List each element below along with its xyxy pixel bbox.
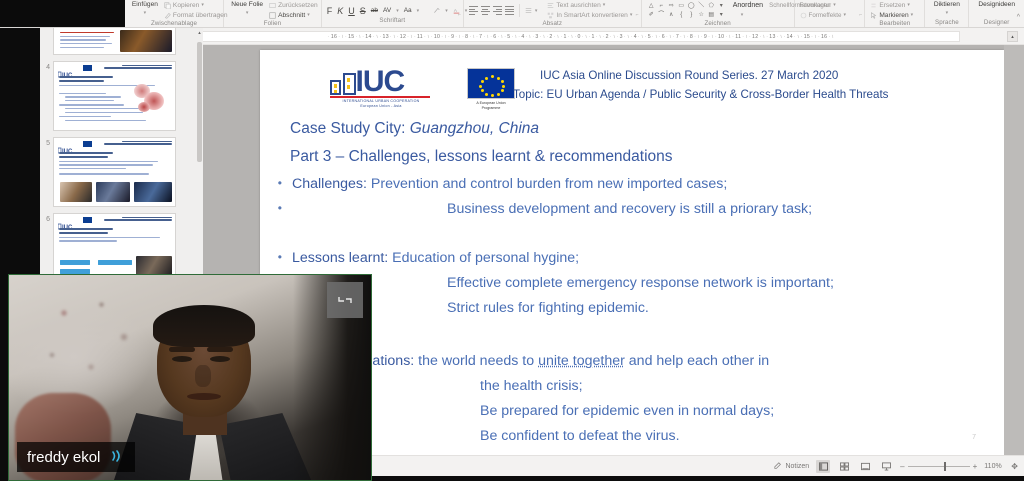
shape-angle-icon[interactable]: ∧: [667, 11, 676, 19]
participant-name-bar: freddy ekol: [17, 442, 135, 472]
shape-rect-icon[interactable]: ▭: [677, 2, 686, 10]
slide-sorter-icon: [840, 462, 849, 471]
chevron-down-icon: ▾: [907, 1, 910, 10]
zoom-knob[interactable]: [944, 462, 946, 471]
replace-label: Ersetzen: [879, 1, 905, 10]
chevron-down-icon: ▾: [603, 1, 606, 10]
group-label-editing: Bearbeiten: [870, 20, 919, 28]
view-slide-sorter-button[interactable]: [837, 460, 851, 473]
collapse-video-button[interactable]: [327, 282, 363, 318]
align-left-icon[interactable]: [469, 6, 478, 15]
notes-icon: [774, 462, 782, 470]
font-dialog-launcher[interactable]: ⌐: [458, 12, 461, 18]
zoom-slider[interactable]: – +: [900, 462, 977, 471]
underline-button[interactable]: U: [348, 6, 355, 16]
convert-smartart-label: In SmartArt konvertieren: [556, 11, 627, 20]
select-button[interactable]: Markieren ▾: [870, 11, 913, 20]
horizontal-ruler[interactable]: ·16·۱·15·۱·14·۱·13·۱·12·۱·11·۱·10·۱·9·۱·…: [202, 31, 960, 42]
bullet-marker: •: [260, 246, 292, 264]
arrange-button[interactable]: Anordnen: [733, 1, 763, 10]
replace-icon: [870, 2, 877, 9]
group-label-paragraph: Absatz: [469, 20, 636, 28]
case-study-label: Case Study City:: [290, 120, 410, 137]
notes-label: Notizen: [785, 463, 809, 470]
ribbon-group-editing: Ersetzen ▾ Markieren ▾ Bearbeiten: [865, 0, 925, 27]
select-icon: [870, 12, 877, 19]
shape-dialog-launcher[interactable]: ⌐: [859, 12, 862, 18]
group-label-font: Schriftart: [327, 17, 458, 25]
shape-more-icon[interactable]: ▾: [717, 2, 726, 10]
scroll-up-arrow-icon[interactable]: ▴: [196, 28, 203, 38]
group-label-designer: Designer: [974, 19, 1019, 27]
quick-styles-button[interactable]: ▾: [741, 11, 763, 20]
dictate-label: Diktieren: [934, 1, 960, 9]
ribbon-group-drawing: △ ⌐ ⇨ ▭ ◯ ＼ ⬠ ▾ ✐ ⌒ ∧ { } ☆ ▤ ▾: [642, 0, 795, 27]
bullet-marker: •: [260, 172, 292, 190]
zoom-in-button[interactable]: +: [973, 462, 978, 471]
fit-to-window-button[interactable]: ✥: [1011, 462, 1018, 471]
thumbnail-header: [96, 217, 172, 224]
text-direction-button[interactable]: Text ausrichten ▾: [547, 1, 632, 10]
line-spacing-icon[interactable]: [525, 7, 532, 14]
participant-name: freddy ekol: [27, 449, 100, 466]
iuc-subtitle-1: INTERNATIONAL URBAN COOPERATION: [330, 99, 432, 104]
eyebrow-right: [207, 347, 233, 352]
iuc-wordmark: IUC: [356, 69, 405, 95]
slideshow-icon: [882, 462, 891, 471]
notes-button[interactable]: Notizen: [774, 462, 809, 470]
eu-flag-icon: [467, 68, 515, 99]
bullet-row: • Lessons learnt: Education of personal …: [260, 246, 984, 271]
thumbnail-iuc-logo: IUC: [58, 141, 80, 148]
bullet-row: • Challenges: Prevention and control bur…: [260, 172, 984, 197]
brush-icon: [164, 12, 171, 19]
thumbnail-slide[interactable]: IUC: [53, 213, 176, 283]
thumbnail-slide[interactable]: [53, 28, 176, 55]
view-slideshow-button[interactable]: [879, 460, 893, 473]
thumbnail-eu-logo: [83, 65, 92, 71]
bullet-body-pre: the world needs to: [418, 353, 538, 369]
section-button[interactable]: Abschnitt ▾: [269, 11, 318, 20]
align-center-icon[interactable]: [481, 6, 490, 15]
reset-button[interactable]: Zurücksetzen: [269, 1, 318, 10]
audio-active-icon: [109, 449, 123, 465]
dictate-button[interactable]: Diktieren ▾: [932, 1, 962, 17]
italic-button[interactable]: K: [337, 6, 343, 16]
divider: [519, 4, 520, 17]
nose: [195, 365, 211, 387]
eu-logo: A European Union Programme: [465, 68, 517, 111]
eu-caption-2: Programme: [465, 106, 517, 110]
shape-brace-right-icon[interactable]: }: [687, 11, 696, 19]
copy-button[interactable]: Kopieren ▾: [164, 1, 228, 10]
thumbnail-item[interactable]: 5 IUC: [40, 134, 203, 210]
scroll-up-button[interactable]: ▴: [1007, 31, 1018, 42]
shape-effects-button[interactable]: Formeffekte▾: [800, 11, 846, 20]
chevron-down-icon: ▾: [307, 11, 310, 20]
thumbnail-item[interactable]: 3: [40, 28, 203, 58]
thumbnail-item[interactable]: 4 IUC: [40, 58, 203, 134]
thumbnail-eu-logo: [83, 141, 92, 147]
group-label-voice: Sprache: [930, 19, 963, 27]
shape-triangle-icon[interactable]: △: [647, 2, 656, 10]
paragraph-dialog-launcher[interactable]: ⌐: [636, 12, 639, 18]
iuc-logo: IUC INTERNATIONAL URBAN COOPERATION Euro…: [330, 67, 432, 107]
thumbnail-number: 4: [42, 61, 53, 71]
normal-view-icon: [819, 462, 828, 471]
bullet-row: • Business development and recovery is s…: [260, 197, 984, 222]
shape-gallery[interactable]: △ ⌐ ⇨ ▭ ◯ ＼ ⬠ ▾ ✐ ⌒ ∧ { } ☆ ▤ ▾: [647, 1, 726, 19]
chevron-down-icon: ▾: [144, 9, 147, 17]
replace-button[interactable]: Ersetzen ▾: [870, 1, 913, 10]
thumbnail-eu-logo: [83, 217, 92, 223]
shape-pentagon-icon[interactable]: ⬠: [707, 2, 716, 10]
section-label: Abschnitt: [278, 11, 305, 20]
change-case-button[interactable]: Aa: [404, 6, 412, 16]
new-slide-button[interactable]: Neue Folie ▾: [229, 1, 265, 17]
ribbon-toolbar: Einfügen ▾ Kopieren ▾ Format übertragen …: [0, 0, 1024, 28]
case-study-line: Case Study City: Guangzhou, China: [290, 120, 539, 138]
select-label: Markieren: [879, 11, 908, 20]
design-ideas-label: Designideen: [978, 1, 1015, 9]
clear-formatting-icon[interactable]: [433, 7, 440, 14]
shape-expand-icon[interactable]: ▾: [717, 11, 726, 19]
eyebrow-left: [169, 347, 195, 352]
speaker-waves-icon: [109, 449, 123, 463]
bullet-text: Challenges: Prevention and control burde…: [292, 172, 727, 197]
new-slide-label: Neue Folie: [231, 1, 263, 9]
shape-bracket-icon[interactable]: ⌐: [657, 2, 666, 10]
justify-icon[interactable]: [505, 6, 514, 15]
thumbnail-number: 6: [42, 213, 53, 223]
shape-oval-icon[interactable]: ◯: [687, 2, 696, 10]
copy-icon: [164, 2, 171, 9]
case-study-city: Guangzhou, China: [410, 120, 539, 137]
ribbon-group-font: F K U S ab AV ▾ Aa ▾ ▾ A ▾ Schriftart ⌐: [322, 0, 464, 27]
group-label-drawing: Zeichnen: [647, 20, 789, 28]
thumbnail-header: [96, 141, 172, 148]
bullet-text: Effective complete emergency response ne…: [292, 271, 834, 296]
ribbon-left-dark-pad: [0, 0, 125, 27]
chevron-down-icon: ▾: [201, 1, 204, 10]
bold-button[interactable]: F: [327, 6, 333, 16]
group-label-slides: Folien: [229, 20, 316, 28]
shape-scribble-icon[interactable]: ✐: [647, 11, 656, 19]
zoom-level-label[interactable]: 110%: [984, 463, 1004, 470]
arrange-label: Anordnen: [733, 1, 763, 10]
text-align-label: Text ausrichten: [556, 1, 600, 10]
eye-left: [172, 356, 192, 362]
thumbnail-header: [96, 65, 172, 72]
collapse-ribbon-button[interactable]: ^: [1017, 14, 1020, 21]
reset-label: Zurücksetzen: [278, 1, 318, 10]
paste-button[interactable]: Einfügen ▾: [130, 1, 160, 17]
hair: [153, 305, 255, 347]
design-ideas-button[interactable]: Designideen: [976, 1, 1017, 9]
ribbon-group-clipboard: Einfügen ▾ Kopieren ▾ Format übertragen …: [125, 0, 224, 27]
video-participant-tile[interactable]: freddy ekol: [8, 274, 372, 481]
shape-brace-left-icon[interactable]: {: [677, 11, 686, 19]
eye-right: [210, 356, 230, 362]
bullet-marker: •: [260, 197, 292, 215]
screen: Einfügen ▾ Kopieren ▾ Format übertragen …: [0, 0, 1024, 481]
chevron-down-icon: ▾: [843, 11, 846, 20]
align-right-icon[interactable]: [493, 6, 502, 15]
zoom-out-button[interactable]: –: [900, 462, 904, 471]
clipboard-dialog-launcher[interactable]: ⌐: [218, 12, 221, 18]
thumbnail-iuc-logo: IUC: [58, 65, 80, 72]
chevron-down-icon: ▾: [630, 11, 633, 20]
zoom-track[interactable]: [908, 466, 970, 467]
part-title: Part 3 – Challenges, lessons learnt & re…: [290, 148, 673, 166]
reset-icon: [269, 2, 276, 9]
smartart-icon: [547, 12, 554, 19]
shape-arrow-icon[interactable]: ⇨: [667, 2, 676, 10]
bullet-label: Challenges:: [292, 176, 371, 192]
ribbon-group-shape-format: Formkontur▾ Formeffekte▾ ⌐: [795, 0, 866, 27]
slide-header-line-1: IUC Asia Online Discussion Round Series.…: [540, 69, 838, 82]
shadow-button[interactable]: S: [360, 6, 366, 16]
shape-line-icon[interactable]: ＼: [697, 2, 706, 10]
mouth: [187, 393, 221, 400]
copy-label: Kopieren: [173, 1, 199, 10]
bullet-body: Education of personal hygine;: [392, 250, 579, 266]
view-normal-button[interactable]: [816, 460, 830, 473]
chevron-down-icon: ▾: [445, 8, 448, 14]
chevron-down-icon: ▾: [833, 1, 836, 10]
reading-view-icon: [861, 462, 870, 471]
thumbnail-slide[interactable]: IUC: [53, 61, 176, 131]
strikethrough-button[interactable]: ab: [371, 6, 378, 16]
chevron-down-icon: ▾: [396, 8, 399, 14]
chevron-down-icon: ▾: [535, 8, 538, 14]
section-icon: [269, 12, 276, 19]
chevron-down-icon: ▾: [911, 11, 914, 20]
group-label-spacer: [800, 20, 860, 28]
effects-icon: [800, 12, 807, 19]
chevron-down-icon: ▾: [946, 9, 949, 17]
ribbon-group-paragraph: ▾ Text ausrichten ▾ In SmartArt konverti…: [464, 0, 642, 27]
thumbnail-number: 5: [42, 137, 53, 147]
shape-fill-button[interactable]: Formkontur▾: [800, 1, 846, 10]
chevron-down-icon: ▾: [246, 9, 249, 17]
thumbnail-slide[interactable]: IUC: [53, 137, 176, 207]
convert-smartart-button[interactable]: In SmartArt konvertieren ▾: [547, 11, 632, 20]
bullet-underlined-phrase: unite together: [538, 353, 625, 369]
iuc-subtitle-2: European Union - Asia: [330, 104, 432, 109]
shape-star-icon[interactable]: ☆: [697, 11, 706, 19]
bullet-body-post: and help each other in: [625, 353, 769, 369]
text-align-icon: [547, 2, 554, 9]
chevron-down-icon: ▾: [417, 8, 420, 14]
bullet-text: Business development and recovery is sti…: [292, 197, 812, 222]
paste-label: Einfügen: [132, 1, 158, 9]
slide-page-number: 7: [972, 434, 976, 441]
thumbnail-iuc-logo: IUC: [58, 217, 80, 224]
ruler-row: ·16·۱·15·۱·14·۱·13·۱·12·۱·11·۱·10·۱·9·۱·…: [140, 28, 1024, 45]
shape-scroll-icon[interactable]: ▤: [707, 11, 716, 19]
eu-caption-1: A European Union: [465, 101, 517, 105]
video-person: [127, 309, 303, 481]
view-reading-button[interactable]: [858, 460, 872, 473]
ribbon-group-voice: Diktieren ▾ Sprache: [925, 0, 969, 27]
shape-curve-icon[interactable]: ⌒: [657, 11, 666, 19]
bullet-label: Lessons learnt:: [292, 250, 392, 266]
scrollbar-thumb[interactable]: [197, 42, 202, 162]
bullet-body: Prevention and control burden from new i…: [371, 176, 727, 192]
character-spacing-button[interactable]: AV: [383, 6, 391, 16]
chevron-down-icon: ▾: [741, 11, 744, 20]
collapse-arrows-icon: [336, 291, 354, 309]
ribbon-group-slides: Neue Folie ▾ Zurücksetzen Abschnitt ▾ Fo…: [224, 0, 322, 27]
slide-header-line-2: Topic: EU Urban Agenda / Public Security…: [513, 88, 888, 101]
bullet-text: Lessons learnt: Education of personal hy…: [292, 246, 579, 271]
bullet-spacer: [260, 222, 984, 246]
stage-right-strip: [1004, 45, 1024, 455]
group-label-clipboard: Zwischenablage: [130, 20, 218, 28]
